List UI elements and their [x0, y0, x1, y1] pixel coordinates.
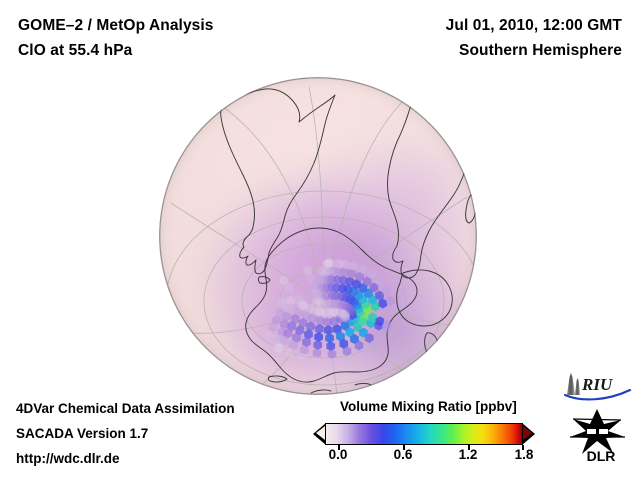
data-cell [312, 356, 321, 366]
globe-disc [159, 77, 477, 395]
page-title: GOME–2 / MetOp Analysis [18, 17, 214, 35]
footer-line-version: SACADA Version 1.7 [16, 426, 148, 441]
data-cell [328, 349, 337, 359]
footer-line-method: 4DVar Chemical Data Assimilation [16, 401, 235, 416]
footer-line-url: http://wdc.dlr.de [16, 451, 120, 466]
svg-text:DLR: DLR [587, 448, 616, 463]
data-cell [313, 340, 322, 350]
colorbar-tick-label: 0.0 [329, 447, 348, 462]
data-cell [314, 332, 323, 342]
colorbar-tick-label: 1.2 [459, 447, 478, 462]
data-cell [315, 324, 324, 334]
data-cell [326, 341, 335, 351]
timestamp-label: Jul 01, 2010, 12:00 GMT [446, 17, 622, 35]
data-cells-layer [159, 77, 477, 395]
dlr-logo-icon: DLR [561, 407, 633, 463]
data-cell [349, 261, 358, 271]
hemisphere-label: Southern Hemisphere [459, 42, 622, 60]
data-cell [329, 357, 338, 367]
data-cell [325, 333, 334, 343]
page-subtitle: ClO at 55.4 hPa [18, 42, 132, 60]
data-cell [313, 348, 322, 358]
data-cell [386, 296, 395, 306]
colorbar-tick-label: 1.8 [515, 447, 534, 462]
svg-text:RIU: RIU [581, 375, 613, 394]
colorbar-title: Volume Mixing Ratio [ppbv] [340, 399, 517, 414]
riu-logo-icon: RIU [561, 371, 633, 401]
data-cell [324, 325, 333, 335]
data-cell [347, 269, 356, 279]
colorbar-tick-label: 0.6 [394, 447, 413, 462]
colorbar-gradient [325, 423, 523, 445]
colorbar [313, 423, 535, 445]
colorbar-extend-max-arrow-icon [522, 423, 535, 445]
globe-map [159, 77, 477, 395]
